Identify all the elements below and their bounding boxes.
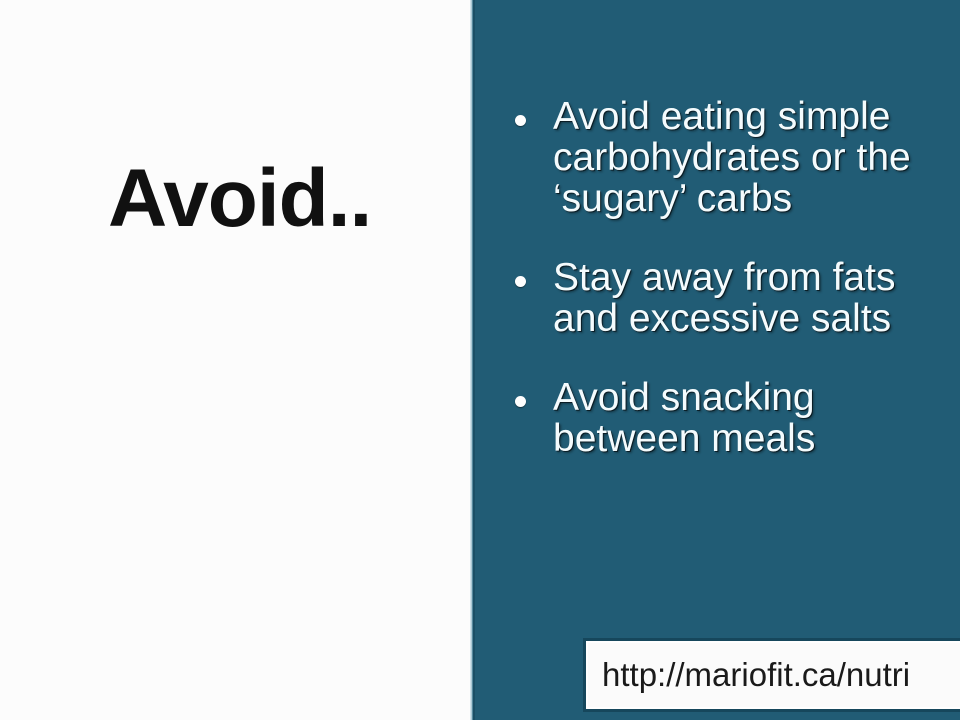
panel-edge-shadow xyxy=(473,0,475,720)
bullet-dot-icon xyxy=(515,115,526,126)
url-callout-inner: http://mariofit.ca/nutri xyxy=(586,641,960,709)
page-title: Avoid.. xyxy=(108,158,371,240)
list-item-label: Stay away from fats and excessive salts xyxy=(553,257,960,339)
content-panel: Avoid eating simple carbohydrates or the… xyxy=(470,0,960,720)
bullet-dot-icon xyxy=(515,396,526,407)
list-item: Avoid snacking between meals xyxy=(510,377,960,459)
list-item: Avoid eating simple carbohydrates or the… xyxy=(510,96,960,219)
url-callout-box[interactable]: http://mariofit.ca/nutri xyxy=(583,638,960,712)
bullet-list: Avoid eating simple carbohydrates or the… xyxy=(510,96,960,497)
title-panel: Avoid.. xyxy=(0,0,470,720)
list-item: Stay away from fats and excessive salts xyxy=(510,257,960,339)
url-text: http://mariofit.ca/nutri xyxy=(588,657,910,693)
slide-canvas: Avoid.. Avoid eating simple carbohydrate… xyxy=(0,0,960,720)
bullet-dot-icon xyxy=(515,276,526,287)
list-item-label: Avoid eating simple carbohydrates or the… xyxy=(553,96,960,219)
list-item-label: Avoid snacking between meals xyxy=(553,377,960,459)
